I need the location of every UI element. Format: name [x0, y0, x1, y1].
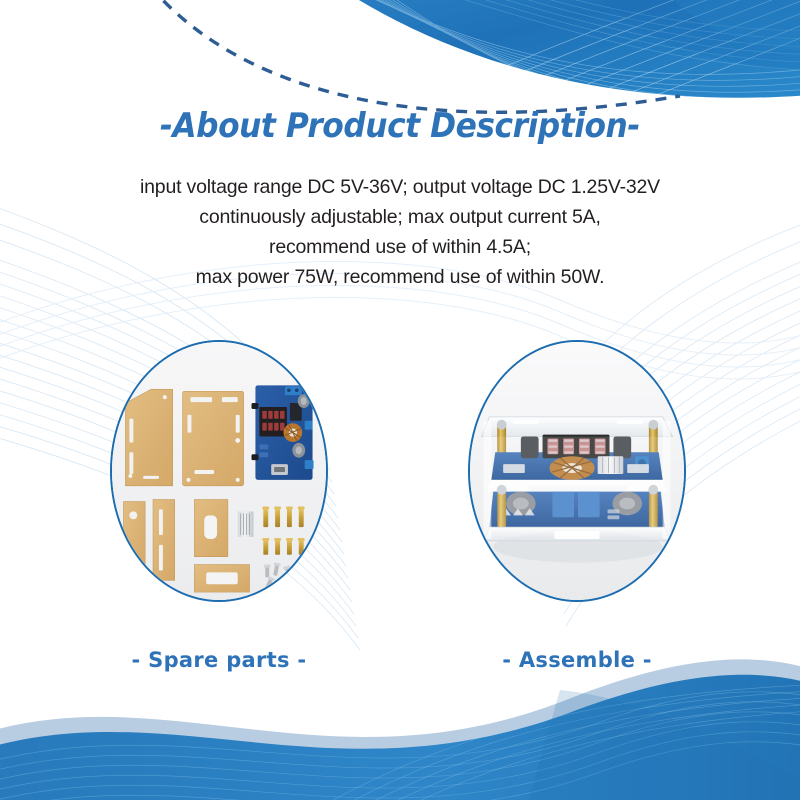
spare-parts-illustration — [112, 342, 326, 600]
product-description-page: -About Product Description- input voltag… — [0, 0, 800, 800]
product-description-text: input voltage range DC 5V-36V; output vo… — [60, 172, 740, 292]
dashed-arc-divider — [150, 0, 680, 112]
description-line: recommend use of within 4.5A; — [60, 232, 740, 262]
acrylic-front-panel — [487, 437, 666, 535]
top-wave-shape — [300, 0, 800, 98]
caption-assemble: - Assemble - — [427, 648, 727, 672]
bottom-wave-shape — [0, 675, 800, 800]
acrylic-top-plate — [481, 417, 672, 437]
page-title-wrap: -About Product Description- — [0, 106, 800, 146]
acrylic-panel-bottom — [194, 565, 249, 593]
description-line: continuously adjustable; max output curr… — [60, 202, 740, 232]
acrylic-panel-slot — [194, 500, 227, 557]
description-line: input voltage range DC 5V-36V; output vo… — [60, 172, 740, 202]
bottom-wave-swirl-lines — [0, 684, 800, 800]
heatsink — [238, 511, 254, 537]
description-line: max power 75W, recommend use of within 5… — [60, 262, 740, 292]
spare-parts-photo — [110, 340, 328, 602]
assembled-unit-illustration — [470, 342, 684, 600]
assembled-unit-photo — [468, 340, 686, 602]
pcb-module — [251, 385, 313, 480]
acrylic-panel-middle — [183, 391, 244, 486]
acrylic-panel-left — [125, 389, 172, 486]
page-title: -About Product Description- — [160, 106, 640, 146]
bottom-wave-light — [0, 659, 800, 800]
caption-spare-parts: - Spare parts - — [69, 648, 369, 672]
acrylic-base-plate — [483, 527, 670, 541]
